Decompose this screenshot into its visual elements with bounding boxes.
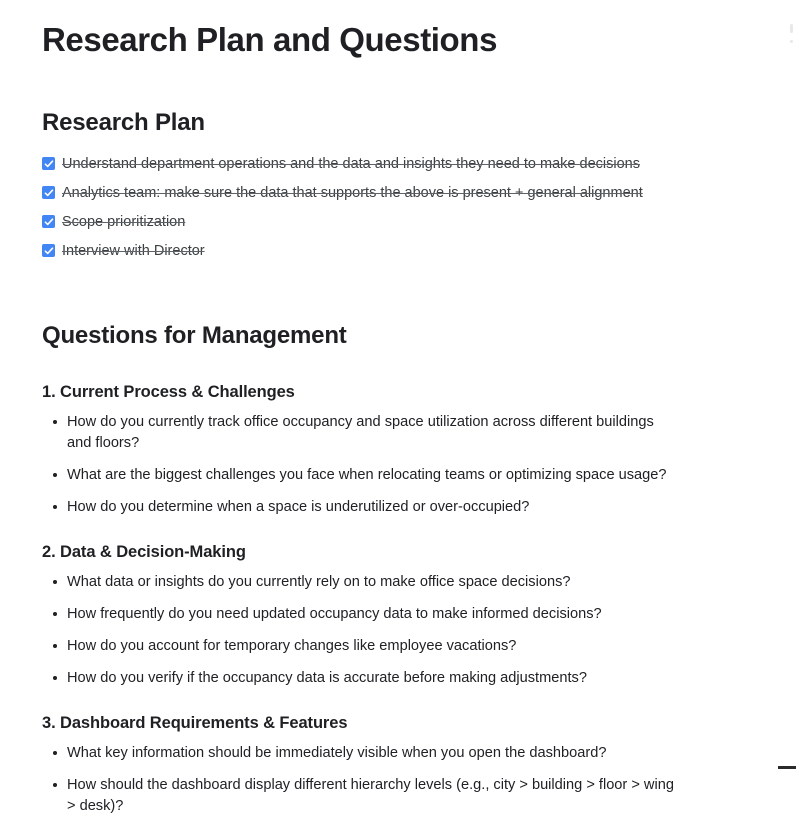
checklist-item-label: Understand department operations and the… <box>62 155 640 174</box>
checklist-item[interactable]: Interview with Director <box>42 242 796 261</box>
question-section: 1. Current Process & Challenges How do y… <box>42 381 796 518</box>
checkbox-checked-icon[interactable] <box>42 244 55 257</box>
question-item: What are the biggest challenges you face… <box>42 465 679 486</box>
question-item: What data or insights do you currently r… <box>42 572 679 593</box>
checklist-item[interactable]: Analytics team: make sure the data that … <box>42 184 796 203</box>
questions-sections: 1. Current Process & Challenges How do y… <box>42 351 796 817</box>
question-list: What key information should be immediate… <box>42 734 796 817</box>
question-section-heading: 1. Current Process & Challenges <box>42 381 796 403</box>
question-item: How frequently do you need updated occup… <box>42 604 679 625</box>
checkbox-checked-icon[interactable] <box>42 186 55 199</box>
research-plan-checklist: Understand department operations and the… <box>42 138 796 261</box>
checklist-item-label: Analytics team: make sure the data that … <box>62 184 643 203</box>
question-item: How do you currently track office occupa… <box>42 412 679 454</box>
scrollbar-thumb[interactable] <box>790 24 793 33</box>
question-section-heading: 2. Data & Decision-Making <box>42 541 796 563</box>
question-list: How do you currently track office occupa… <box>42 403 796 518</box>
section-heading-research-plan: Research Plan <box>42 62 796 138</box>
question-item: How do you verify if the occupancy data … <box>42 668 679 689</box>
checklist-item-label: Interview with Director <box>62 242 205 261</box>
checkbox-checked-icon[interactable] <box>42 157 55 170</box>
checklist-item[interactable]: Scope prioritization <box>42 213 796 232</box>
checklist-item[interactable]: Understand department operations and the… <box>42 155 796 174</box>
document-page: Research Plan and Questions Research Pla… <box>0 0 796 771</box>
checkbox-checked-icon[interactable] <box>42 215 55 228</box>
question-section: 2. Data & Decision-Making What data or i… <box>42 518 796 689</box>
page-edge-marker <box>778 766 796 769</box>
scrollbar-mark <box>790 40 793 43</box>
question-list: What data or insights do you currently r… <box>42 563 796 689</box>
question-item: How do you account for temporary changes… <box>42 636 679 657</box>
question-item: How do you determine when a space is und… <box>42 497 679 518</box>
section-heading-questions: Questions for Management <box>42 271 796 351</box>
question-section-heading: 3. Dashboard Requirements & Features <box>42 712 796 734</box>
checklist-item-label: Scope prioritization <box>62 213 185 232</box>
question-item: How should the dashboard display differe… <box>42 775 679 817</box>
question-section: 3. Dashboard Requirements & Features Wha… <box>42 689 796 817</box>
question-item: What key information should be immediate… <box>42 743 679 764</box>
page-title: Research Plan and Questions <box>42 0 796 62</box>
